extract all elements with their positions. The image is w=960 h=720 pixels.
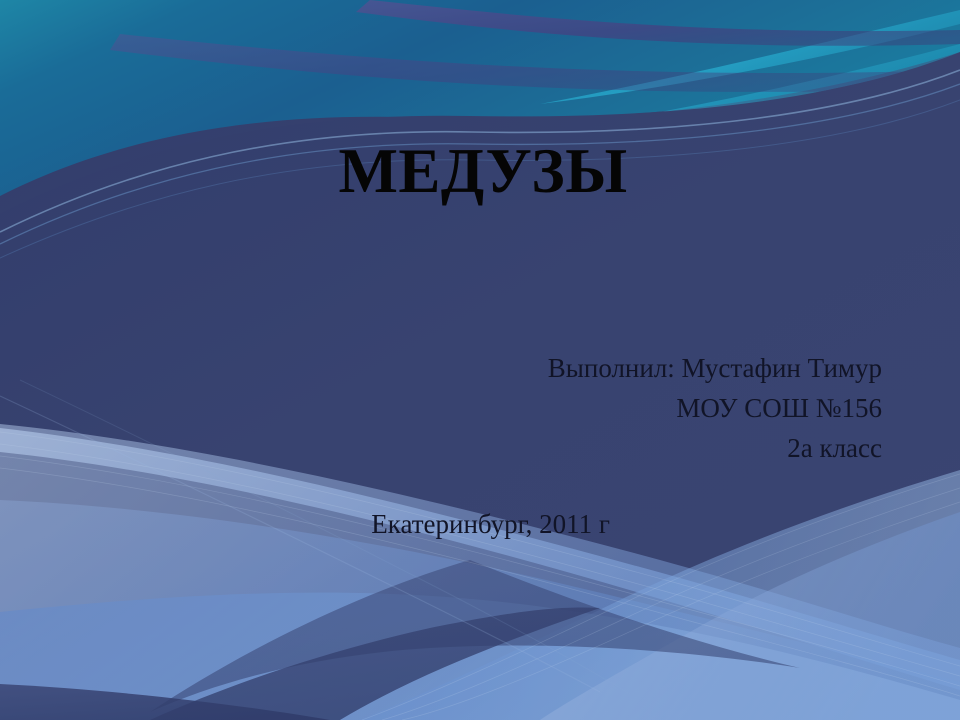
subtitle-placeholder: Выполнил: Мустафин Тимур МОУ СОШ №156 2а… — [70, 348, 882, 544]
title-placeholder: МЕДУЗЫ — [0, 138, 960, 204]
venue-line: Екатеринбург, 2011 г — [70, 504, 882, 544]
title-slide: МЕДУЗЫ Выполнил: Мустафин Тимур МОУ СОШ … — [0, 0, 960, 720]
page-title: МЕДУЗЫ — [338, 138, 627, 204]
class-line: 2а класс — [70, 428, 882, 468]
author-line: Выполнил: Мустафин Тимур — [70, 348, 882, 388]
school-line: МОУ СОШ №156 — [70, 388, 882, 428]
